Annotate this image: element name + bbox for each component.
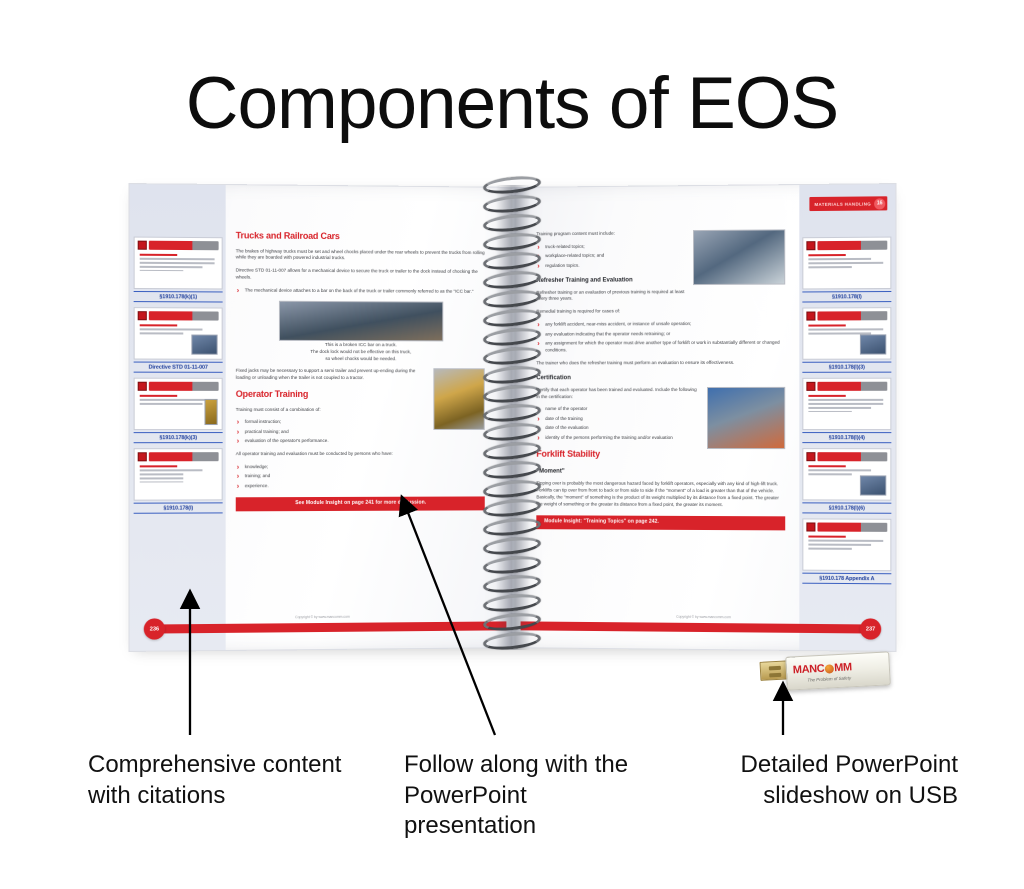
list-item: date of the evaluation [545,425,785,432]
module-header-tab: MATERIALS HANDLING 16 [809,196,887,211]
slide-thumbnail-item: §1910.178(k)(3) [134,378,223,444]
mancomm-logo-icon [806,452,815,461]
paragraph: Refresher training or an evaluation of p… [536,288,785,303]
list-item: knowledge; [245,464,485,471]
module-number-badge: 16 [874,198,885,209]
module-insight-callout: Module Insight: "Training Topics" on pag… [536,515,785,531]
slide-thumbnail-item: §1910.178(l) [134,448,223,514]
figure-caption: This is a broken ICC bar on a truck. The… [236,341,485,363]
page-title: Components of EOS [0,62,1024,145]
slide-thumbnail [134,237,223,290]
slide-photo [191,335,217,355]
slide-title-bar [817,382,887,391]
paragraph: Directive STD 01-11-007 allows for a mec… [236,268,485,283]
globe-icon [825,664,834,673]
brand-text-after: MM [834,661,852,674]
slide-thumbnail [134,307,223,360]
slide-body-lines [806,536,887,550]
list-item: practical training; and [245,429,485,436]
right-page-content: Training program content must include: t… [536,229,785,530]
slide-body-lines [138,254,219,272]
list-item: training; and [245,473,485,480]
citation-label: Directive STD 01-11-007 [134,362,223,373]
slide-photo [860,334,886,354]
citation-label: §1910.178(l) [802,291,891,303]
slide-body-lines [806,395,887,412]
caption-detailed-slideshow-usb: Detailed PowerPoint slideshow on USB [698,750,958,811]
left-page-content: Trucks and Railroad Cars The brakes of h… [236,229,485,511]
mancomm-logo-icon [138,382,147,391]
slide-thumbnail-item: §1910.178(k)(1) [134,237,223,303]
slide-photo [204,399,217,425]
list-item: any evaluation indicating that the opera… [545,330,785,338]
list-item: identity of the persons performing the t… [545,435,785,442]
paragraph: The brakes of highway trucks must be set… [236,248,485,263]
citation-label: §1910.178(k)(1) [134,291,223,303]
usb-flash-drive: MANCMM The Problem of Safety [760,648,892,698]
citation-label: §1910.178(l)(6) [802,502,891,513]
slide-thumbnail [802,307,891,360]
slide-photo [860,475,886,495]
book-left-page: §1910.178(k)(1) Directive STD 01-11-007 [129,183,514,652]
page-footer-bar [160,621,506,633]
mancomm-logo-icon [138,452,147,461]
slide-body-lines [806,465,887,475]
left-slide-thumbnail-list: §1910.178(k)(1) Directive STD 01-11-007 [134,237,223,519]
paragraph: Tipping over is probably the most danger… [536,481,785,509]
section-heading-trucks: Trucks and Railroad Cars [236,229,485,244]
citation-label: §1910.178 Appendix A [802,573,891,585]
mancomm-logo-icon [806,311,815,320]
bullet-list: The mechanical device attaches to a bar … [236,288,485,296]
slide-thumbnail-item: §1910.178(l) [802,237,891,303]
list-item: evaluation of the operator's performance… [245,438,485,445]
slide-body-lines [138,324,219,334]
slide-thumbnail-item: §1910.178(l)(4) [802,378,891,444]
slide-root: Components of EOS §1910.178(k)(1) [0,0,1024,889]
list-item: date of the training [545,416,785,423]
paragraph: All operator training and evaluation mus… [236,451,485,458]
bullet-list: truck-related topics; workplace-related … [536,242,785,269]
slide-thumbnail-item: §1910.178 Appendix A [802,518,891,584]
right-slide-thumbnail-list: §1910.178(l) §1910.178(l)(3) [802,237,891,590]
list-item: any assignment for which the operator mu… [545,340,785,354]
slide-title-bar [149,452,219,461]
slide-thumbnail [134,378,223,430]
citation-label: §1910.178(l)(4) [802,432,891,443]
list-item: any forklift accident, near-miss acciden… [545,321,785,329]
slide-body-lines [806,254,887,268]
slide-thumbnail [802,378,891,430]
paragraph: The trainer who does the refresher train… [536,360,785,367]
list-item: The mechanical device attaches to a bar … [245,288,485,296]
citation-label: §1910.178(k)(3) [134,432,223,443]
slide-thumbnail-item: §1910.178(l)(6) [802,448,891,514]
slide-thumbnail [802,237,891,290]
photo-icc-bar-truck [278,301,442,342]
slide-title-bar [149,311,219,320]
list-item: formal instruction; [245,419,485,426]
section-heading-forklift-stability: Forklift Stability [536,447,785,461]
spiral-bound-book-image: §1910.178(k)(1) Directive STD 01-11-007 [130,185,895,655]
slide-title-bar [817,241,887,251]
bullet-list: knowledge; training; and experience. [236,464,485,490]
mancomm-logo-icon [138,241,147,250]
bullet-list: formal instruction; practical training; … [236,419,485,445]
page-number-right: 237 [860,618,881,639]
slide-title-bar [817,452,887,461]
page-footer-bar [521,621,865,633]
slide-title-bar [149,241,219,251]
slide-title-bar [149,382,219,391]
subheading-certification: Certification [536,374,785,383]
slide-thumbnail-item: §1910.178(l)(3) [802,307,891,373]
list-item: name of the operator [545,406,785,413]
caption-follow-along-powerpoint: Follow along with the PowerPoint present… [404,750,654,842]
brand-tagline: The Problem of Safety [807,675,851,682]
list-item: experience. [245,482,485,490]
subheading-moment: "Moment" [536,468,785,478]
slide-body-lines [138,465,219,483]
paragraph: Remedial training is required for cases … [536,308,785,316]
module-name-label: MATERIALS HANDLING [814,201,871,207]
bullet-list: any forklift accident, near-miss acciden… [536,321,785,354]
mancomm-logo-icon [138,311,147,320]
slide-title-bar [817,311,887,320]
mancomm-logo-icon [806,382,815,391]
module-insight-callout: See Module Insight on page 241 for more … [236,496,485,511]
mancomm-brand-label: MANCMM [793,660,886,677]
slide-thumbnail-item: Directive STD 01-11-007 [134,307,223,373]
slide-thumbnail [134,448,223,501]
mancomm-logo-icon [806,522,815,531]
page-number-left: 236 [144,618,165,639]
mancomm-logo-icon [806,241,815,250]
slide-thumbnail [802,448,891,501]
slide-title-bar [817,523,887,532]
citation-label: §1910.178(l) [134,502,223,513]
slide-thumbnail [802,518,891,571]
usb-body: MANCMM The Problem of Safety [785,651,891,690]
book-right-page: MATERIALS HANDLING 16 Training program c… [514,183,897,652]
brand-text-before: MANC [793,663,825,677]
citation-label: §1910.178(l)(3) [802,362,891,373]
slide-body-lines [806,324,887,334]
caption-comprehensive-content: Comprehensive content with citations [88,750,363,811]
